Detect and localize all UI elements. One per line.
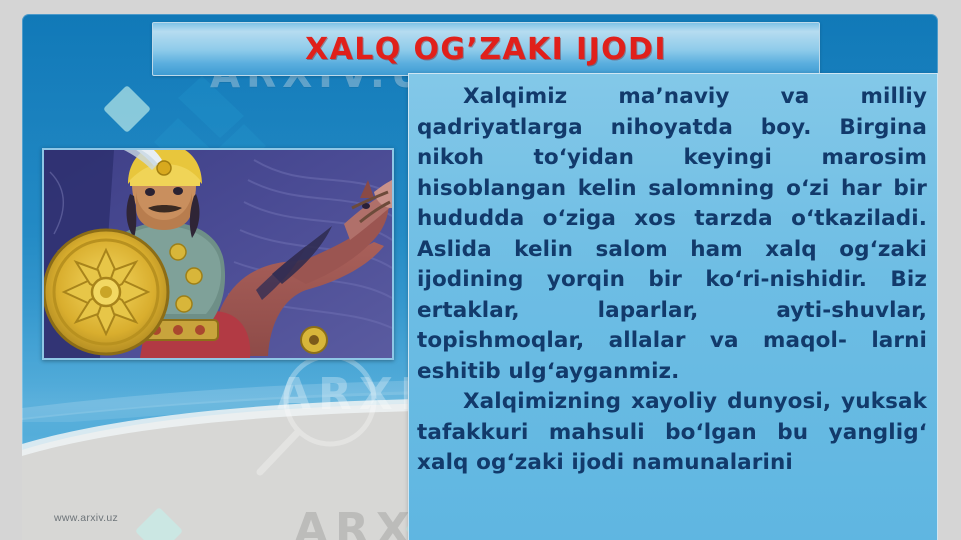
body-paragraph-1: Xalqimiz ma’naviy va milliy qadriyatlarg… (417, 82, 927, 387)
diamond-watermark-icon (103, 85, 151, 133)
slide-title-banner: XALQ OG’ZAKI IJODI (152, 22, 820, 76)
body-paragraph-2: Xalqimizning xayoliy dunyosi, yuksak taf… (417, 387, 927, 479)
alpomish-warrior-illustration (44, 150, 392, 358)
illustration-frame (42, 148, 394, 360)
source-url-label: www.arxiv.uz (54, 512, 118, 524)
page-title: XALQ OG’ZAKI IJODI (305, 32, 667, 67)
slide-body-textbox: Xalqimiz ma’naviy va milliy qadriyatlarg… (408, 73, 938, 540)
screenshot-canvas: ARXIV.UZ ARXIV.UZ ARXIV.UZ SOFT XALQ OG’… (0, 0, 961, 540)
presentation-slide: ARXIV.UZ ARXIV.UZ ARXIV.UZ SOFT XALQ OG’… (22, 14, 938, 540)
